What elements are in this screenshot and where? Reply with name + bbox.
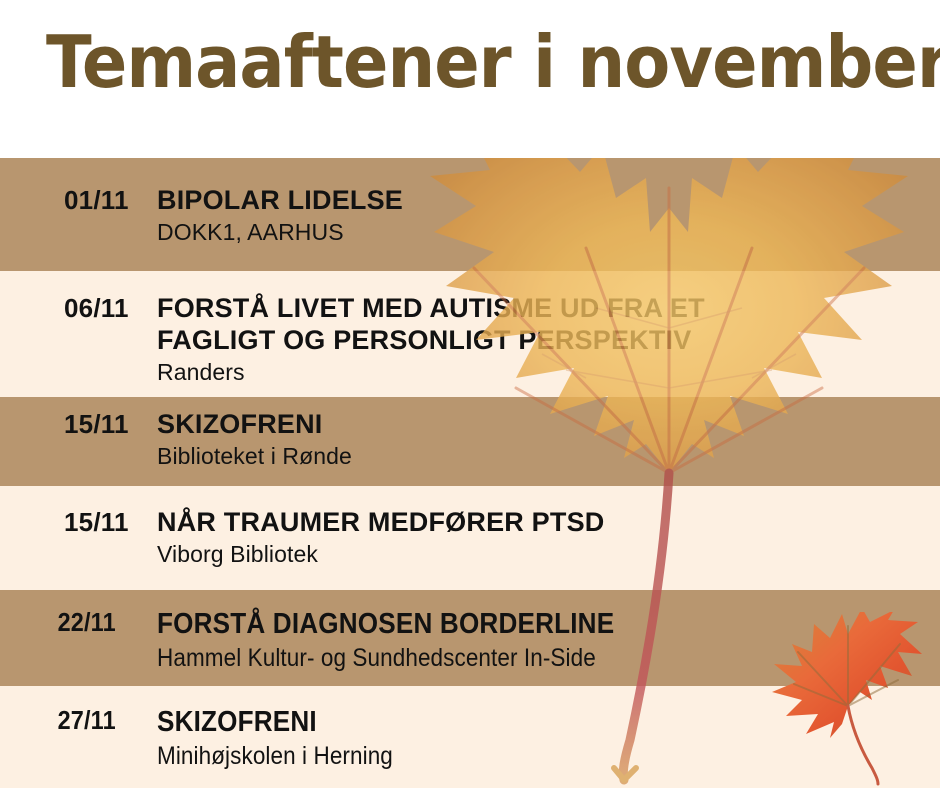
row-body: SKIZOFRENI Biblioteket i Rønde: [157, 397, 940, 470]
row-venue: Minihøjskolen i Herning: [157, 741, 862, 771]
row-venue: Hammel Kultur- og Sundhedscenter In-Side: [157, 643, 862, 673]
row-date: 01/11: [0, 158, 157, 216]
row-title: FORSTÅ DIAGNOSEN BORDERLINE: [157, 607, 862, 641]
row-date: 15/11: [0, 486, 157, 538]
schedule-row[interactable]: 27/11 SKIZOFRENI Minihøjskolen i Herning: [0, 686, 940, 788]
page-title: Temaaftener i november: [46, 26, 940, 98]
row-body: FORSTÅ DIAGNOSEN BORDERLINE Hammel Kultu…: [157, 590, 940, 673]
schedule-row[interactable]: 15/11 NÅR TRAUMER MEDFØRER PTSD Viborg B…: [0, 486, 940, 590]
header-band: Temaaftener i november: [0, 0, 940, 158]
row-title: NÅR TRAUMER MEDFØRER PTSD: [157, 507, 940, 539]
row-title: SKIZOFRENI: [157, 409, 940, 441]
schedule-row[interactable]: 15/11 SKIZOFRENI Biblioteket i Rønde: [0, 397, 940, 486]
row-venue: DOKK1, AARHUS: [157, 219, 940, 247]
row-date: 27/11: [0, 686, 141, 736]
row-venue: Viborg Bibliotek: [157, 541, 940, 569]
row-date: 22/11: [0, 590, 141, 638]
schedule-row[interactable]: 22/11 FORSTÅ DIAGNOSEN BORDERLINE Hammel…: [0, 590, 940, 686]
row-title-line-2: FAGLIGT OG PERSONLIGT PERSPEKTIV: [157, 325, 940, 357]
row-title-line-1: FORSTÅ LIVET MED AUTISME UD FRA ET: [157, 293, 940, 325]
row-body: BIPOLAR LIDELSE DOKK1, AARHUS: [157, 158, 940, 246]
row-venue: Biblioteket i Rønde: [157, 443, 940, 471]
row-body: NÅR TRAUMER MEDFØRER PTSD Viborg Bibliot…: [157, 486, 940, 568]
row-body: SKIZOFRENI Minihøjskolen i Herning: [157, 686, 940, 771]
row-venue: Randers: [157, 359, 940, 387]
row-date: 15/11: [0, 397, 157, 440]
row-title: BIPOLAR LIDELSE: [157, 185, 940, 217]
schedule-list: 01/11 BIPOLAR LIDELSE DOKK1, AARHUS 06/1…: [0, 158, 940, 788]
row-date: 06/11: [0, 271, 157, 324]
schedule-row[interactable]: 01/11 BIPOLAR LIDELSE DOKK1, AARHUS: [0, 158, 940, 271]
schedule-row[interactable]: 06/11 FORSTÅ LIVET MED AUTISME UD FRA ET…: [0, 271, 940, 397]
row-title: SKIZOFRENI: [157, 705, 862, 739]
row-body: FORSTÅ LIVET MED AUTISME UD FRA ET FAGLI…: [157, 271, 940, 386]
poster-canvas: Temaaftener i november 01/11 BIPOLAR LID…: [0, 0, 940, 788]
